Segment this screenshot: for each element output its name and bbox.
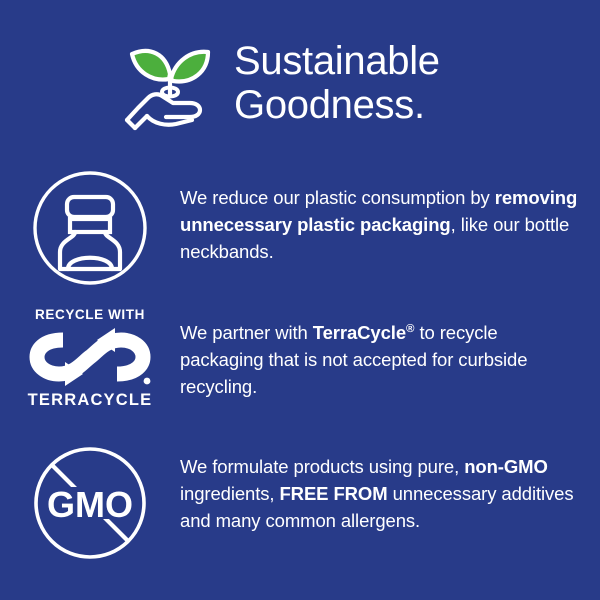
feature-row-plastic-reduction: We reduce our plastic consumption by rem…: [0, 168, 600, 286]
header: Sustainable Goodness.: [0, 28, 600, 138]
terracycle-logo-icon: RECYCLE WITH TERRACYCLE: [0, 305, 180, 409]
feature-text-plastic-reduction: We reduce our plastic consumption by rem…: [180, 168, 600, 265]
feature-text-non-gmo: We formulate products using pure, non-GM…: [180, 443, 600, 534]
gmo-label: GMO: [47, 484, 133, 525]
text-part: We reduce our plastic consumption by: [180, 187, 495, 208]
text-part: We partner with: [180, 322, 313, 343]
bottle-no-neckband-icon: [0, 168, 180, 286]
page-title: Sustainable Goodness.: [234, 39, 440, 127]
feature-text-terracycle: We partner with TerraCycle® to recycle p…: [180, 305, 600, 400]
text-part-bold: TerraCycle®: [313, 322, 415, 343]
text-part-bold: FREE FROM: [279, 483, 387, 504]
feature-row-non-gmo: GMO We formulate products using pure, no…: [0, 443, 600, 561]
text-part-bold: non-GMO: [464, 456, 548, 477]
hand-holding-plant-icon: [118, 34, 222, 134]
terracycle-wordmark: TerraCycle: [313, 322, 406, 343]
text-part: ingredients,: [180, 483, 279, 504]
no-gmo-icon: GMO: [0, 443, 180, 561]
terracycle-top-label: RECYCLE WITH: [35, 307, 145, 322]
feature-row-terracycle: RECYCLE WITH TERRACYCLE W: [0, 305, 600, 409]
terracycle-bottom-label: TERRACYCLE: [28, 391, 153, 409]
text-part: We formulate products using pure,: [180, 456, 464, 477]
terracycle-infinity-mark: [27, 326, 153, 388]
terracycle-badge: RECYCLE WITH TERRACYCLE: [24, 307, 156, 409]
sustainable-goodness-panel: Sustainable Goodness. We reduce our plas…: [0, 0, 600, 600]
